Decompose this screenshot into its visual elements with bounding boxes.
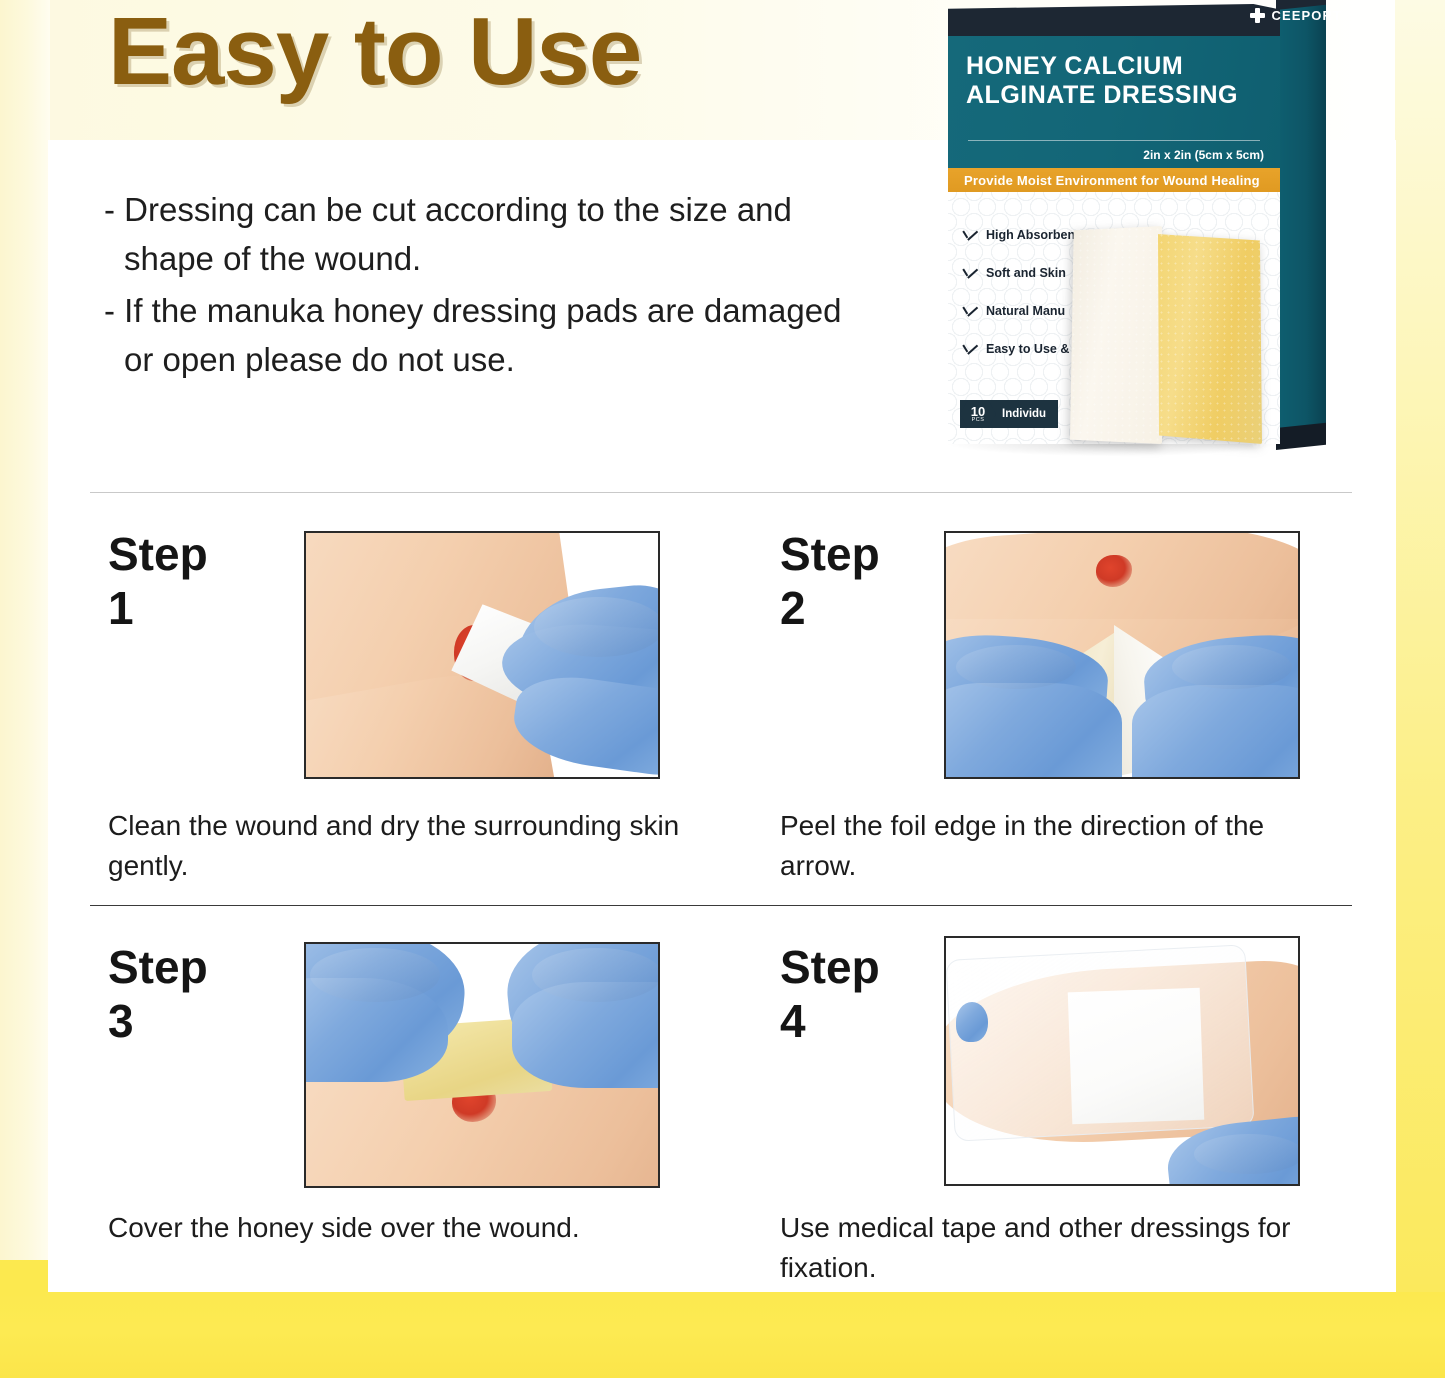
gloved-palm-right bbox=[1132, 685, 1300, 779]
gloved-fingertip bbox=[956, 1002, 988, 1042]
photo-scene bbox=[306, 533, 658, 777]
box-size-label: 2in x 2in (5cm x 5cm) bbox=[1143, 148, 1264, 162]
box-front-header: HONEY CALCIUM ALGINATE DRESSING 2in x 2i… bbox=[948, 36, 1280, 172]
photo-scene bbox=[306, 944, 658, 1186]
pad-texture bbox=[1158, 232, 1262, 444]
checkmark-icon bbox=[962, 266, 978, 280]
pack-count: 10 bbox=[971, 405, 985, 418]
step-1-photo bbox=[304, 531, 660, 779]
step-1-caption: Clean the wound and dry the surrounding … bbox=[108, 806, 688, 886]
glove-highlight-right bbox=[1172, 645, 1292, 689]
box-feature-4: Easy to Use & bbox=[986, 342, 1069, 356]
white-dressing-pad bbox=[1068, 988, 1205, 1125]
step-3-label: Step 3 bbox=[108, 940, 208, 1048]
box-top-flap bbox=[948, 4, 1280, 38]
step-2-caption: Peel the foil edge in the direction of t… bbox=[780, 806, 1310, 886]
list-item: Easy to Use & bbox=[962, 330, 1075, 368]
dressing-pad-honey-side bbox=[1158, 232, 1262, 444]
decorative-right-edge bbox=[1395, 0, 1445, 1292]
glove-highlight bbox=[1194, 1134, 1300, 1174]
box-feature-list: High Absorben Soft and Skin Natural Manu… bbox=[962, 216, 1075, 368]
step-4-caption: Use medical tape and other dressings for… bbox=[780, 1208, 1310, 1288]
checkmark-icon bbox=[962, 228, 978, 242]
box-title-line-1: HONEY CALCIUM bbox=[966, 52, 1238, 81]
step-4-photo bbox=[944, 936, 1300, 1186]
glove-highlight-right bbox=[532, 948, 660, 1002]
step-2-photo bbox=[944, 531, 1300, 779]
box-side-panel bbox=[1276, 5, 1326, 446]
box-tagline: Provide Moist Environment for Wound Heal… bbox=[948, 173, 1260, 188]
gloved-palm-left bbox=[944, 683, 1122, 779]
glove-highlight-left bbox=[310, 948, 440, 1002]
brand-name: CEEPORT bbox=[1271, 8, 1342, 23]
pack-count-badge: 10 PCS Individu bbox=[960, 400, 1058, 428]
box-tagline-strip: Provide Moist Environment for Wound Heal… bbox=[948, 168, 1280, 192]
poster-background: Easy to Use - Dressing can be cut accord… bbox=[0, 0, 1445, 1378]
checkmark-icon bbox=[962, 304, 978, 318]
product-box-illustration: HONEY CALCIUM ALGINATE DRESSING CEEPORT … bbox=[938, 0, 1358, 470]
pack-count-unit: PCS bbox=[972, 418, 985, 424]
checkmark-icon bbox=[962, 342, 978, 356]
step-3-caption: Cover the honey side over the wound. bbox=[108, 1208, 688, 1248]
decorative-left-edge bbox=[0, 0, 50, 1292]
decorative-bottom-band bbox=[0, 1292, 1445, 1378]
box-product-title: HONEY CALCIUM ALGINATE DRESSING bbox=[966, 52, 1238, 111]
photo-scene bbox=[946, 533, 1298, 777]
intro-bullet-list: - Dressing can be cut according to the s… bbox=[104, 186, 844, 388]
photo-scene bbox=[946, 938, 1298, 1184]
box-feature-2: Soft and Skin bbox=[986, 266, 1066, 280]
box-title-line-2: ALGINATE DRESSING bbox=[966, 81, 1238, 110]
pack-note: Individu bbox=[996, 408, 1046, 420]
dressing-pad-white-side bbox=[1070, 226, 1162, 444]
list-item: - If the manuka honey dressing pads are … bbox=[104, 287, 844, 384]
medical-cross-icon bbox=[1250, 8, 1265, 23]
glove-highlight bbox=[534, 597, 660, 657]
section-divider-top bbox=[90, 492, 1352, 493]
glove-highlight-left bbox=[956, 645, 1076, 689]
box-side-bottom-flap bbox=[1276, 423, 1326, 450]
step-4-label: Step 4 bbox=[780, 940, 880, 1048]
step-2-label: Step 2 bbox=[780, 527, 880, 635]
list-item: High Absorben bbox=[962, 216, 1075, 254]
hexagon-badge-icon: 10 PCS bbox=[960, 400, 996, 428]
list-item: Soft and Skin bbox=[962, 254, 1075, 292]
dressing-pad-pair bbox=[1070, 226, 1266, 448]
section-divider-middle bbox=[90, 905, 1352, 906]
box-feature-1: High Absorben bbox=[986, 228, 1075, 242]
brand-logo: CEEPORT bbox=[1250, 8, 1342, 23]
intro-bullet-2: - If the manuka honey dressing pads are … bbox=[104, 287, 844, 384]
box-feature-3: Natural Manu bbox=[986, 304, 1065, 318]
pad-texture bbox=[1070, 226, 1162, 444]
intro-bullet-1: - Dressing can be cut according to the s… bbox=[104, 186, 844, 283]
list-item: Natural Manu bbox=[962, 292, 1075, 330]
page-title: Easy to Use bbox=[108, 2, 641, 103]
step-3-photo bbox=[304, 942, 660, 1188]
box-title-rule bbox=[968, 140, 1260, 141]
list-item: - Dressing can be cut according to the s… bbox=[104, 186, 844, 283]
decorative-corner-tip bbox=[0, 1260, 48, 1292]
step-1-label: Step 1 bbox=[108, 527, 208, 635]
